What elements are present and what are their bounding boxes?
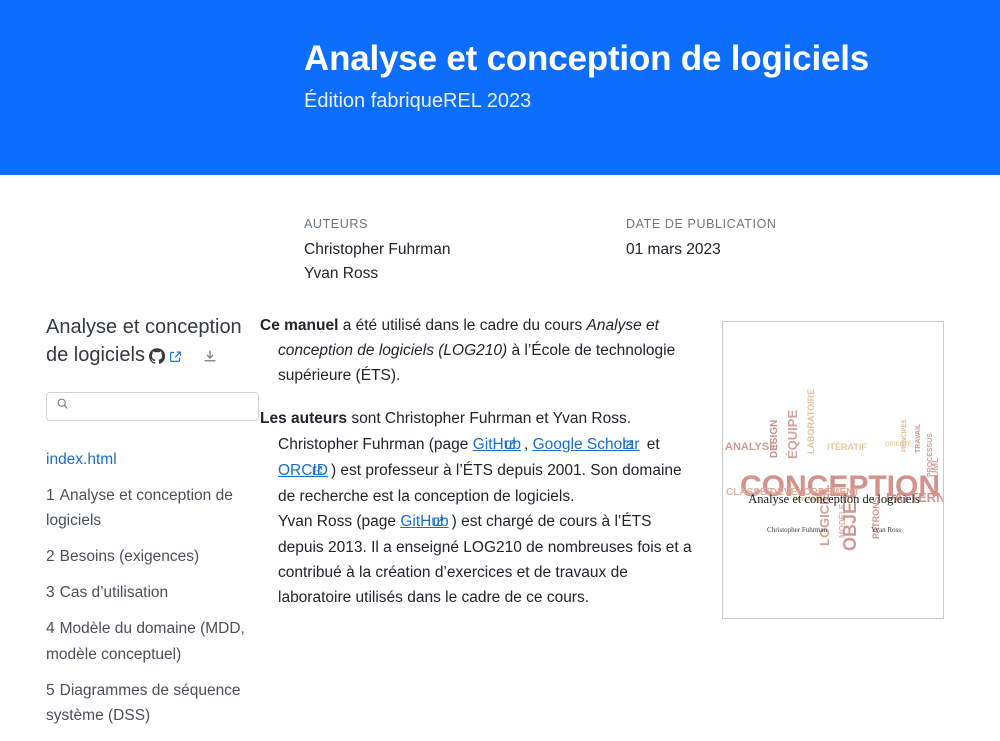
word-cloud-word: LABORATOIRE bbox=[807, 389, 816, 454]
word-cloud-word: ITÉRATIF bbox=[827, 443, 867, 452]
paragraph-text: ) est professeur à l’ÉTS depuis 2001. So… bbox=[278, 462, 682, 505]
word-cloud-word: DESIGN bbox=[770, 420, 780, 458]
sidebar-item-chapter-5[interactable]: 5Diagrammes de séquence système (DSS) bbox=[46, 678, 250, 728]
page-subtitle: Édition fabriqueREL 2023 bbox=[304, 89, 1000, 113]
cover-authors: Christopher Fuhrman Yvan Ross bbox=[723, 526, 944, 534]
sidebar-item-chapter-1[interactable]: 1Analyse et conception de logiciels bbox=[46, 483, 250, 533]
sidebar-item-chapter-3[interactable]: 3Cas d’utilisation bbox=[46, 580, 250, 605]
github-icon[interactable] bbox=[149, 348, 165, 364]
main-content: ANALYSEDESIGNÉQUIPELABORATOIREITÉRATIFOR… bbox=[260, 313, 1000, 739]
page-header-banner: Analyse et conception de logiciels Éditi… bbox=[0, 0, 1000, 175]
cover-title: Analyse et conception de logiciels bbox=[723, 492, 944, 507]
paragraph-text: Yvan Ross (page bbox=[278, 513, 400, 530]
document-metadata: AUTEURS Christopher Fuhrman Yvan Ross DA… bbox=[0, 175, 1000, 285]
paragraph-text: a été utilisé dans le cadre du cours bbox=[338, 317, 586, 334]
sidebar-item-label: Cas d’utilisation bbox=[60, 584, 169, 601]
chapter-number: 3 bbox=[46, 584, 55, 601]
chapter-number: 2 bbox=[46, 548, 55, 565]
cover-author-name: Yvan Ross bbox=[871, 526, 901, 534]
sidebar-item-label: Analyse et conception de logiciels bbox=[46, 487, 233, 529]
author-name: Christopher Fuhrman bbox=[304, 238, 626, 262]
paragraph-text: et bbox=[642, 436, 659, 453]
chapter-number: 4 bbox=[46, 620, 55, 637]
paragraph-text: Christopher Fuhrman (page bbox=[278, 436, 473, 453]
author-name: Yvan Ross bbox=[304, 262, 626, 286]
authors-meta-block: AUTEURS Christopher Fuhrman Yvan Ross bbox=[304, 217, 626, 285]
sidebar-item-chapter-4[interactable]: 4Modèle du domaine (MDD, modèle conceptu… bbox=[46, 616, 250, 666]
sidebar: Analyse et conception de logiciels inde bbox=[0, 313, 260, 739]
external-link-icon[interactable] bbox=[169, 350, 182, 363]
download-icon[interactable] bbox=[202, 348, 218, 364]
search-input[interactable] bbox=[75, 398, 249, 415]
paragraph-text: , bbox=[524, 436, 533, 453]
publication-date-value: 01 mars 2023 bbox=[626, 238, 948, 262]
sidebar-item-label: Diagrammes de séquence système (DSS) bbox=[46, 682, 241, 724]
sidebar-item-label: index.html bbox=[46, 451, 117, 468]
word-cloud-word: PRINCIPES bbox=[902, 420, 908, 452]
authors-label: AUTEURS bbox=[304, 217, 626, 231]
sidebar-item-chapter-2[interactable]: 2Besoins (exigences) bbox=[46, 544, 250, 569]
publication-date-meta-block: DATE DE PUBLICATION 01 mars 2023 bbox=[626, 217, 948, 285]
word-cloud-word: ÉQUIPE bbox=[786, 410, 799, 459]
word-cloud-word: TRAVAIL bbox=[915, 424, 922, 453]
paragraph-text: sont Christopher Fuhrman et Yvan Ross. bbox=[347, 410, 631, 427]
search-icon bbox=[56, 397, 69, 415]
chapter-number: 5 bbox=[46, 682, 55, 699]
search-box[interactable] bbox=[46, 392, 259, 421]
sidebar-item-index[interactable]: index.html bbox=[46, 447, 250, 472]
sidebar-item-label: Modèle du domaine (MDD, modèle conceptue… bbox=[46, 620, 245, 662]
word-cloud: ANALYSEDESIGNÉQUIPELABORATOIREITÉRATIFOR… bbox=[723, 350, 944, 480]
sidebar-title: Analyse et conception de logiciels bbox=[46, 313, 250, 370]
publication-date-label: DATE DE PUBLICATION bbox=[626, 217, 948, 231]
chapter-number: 1 bbox=[46, 487, 55, 504]
page-title: Analyse et conception de logiciels bbox=[304, 38, 1000, 79]
sidebar-item-label: Besoins (exigences) bbox=[60, 548, 200, 565]
paragraph-lead: Ce manuel bbox=[260, 317, 338, 334]
book-cover-image: ANALYSEDESIGNÉQUIPELABORATOIREITÉRATIFOR… bbox=[722, 321, 944, 619]
paragraph-lead: Les auteurs bbox=[260, 410, 347, 427]
book-cover-figure: ANALYSEDESIGNÉQUIPELABORATOIREITÉRATIFOR… bbox=[722, 321, 944, 619]
cover-author-name: Christopher Fuhrman bbox=[767, 526, 827, 534]
sidebar-nav-list: index.html 1Analyse et conception de log… bbox=[46, 447, 250, 728]
